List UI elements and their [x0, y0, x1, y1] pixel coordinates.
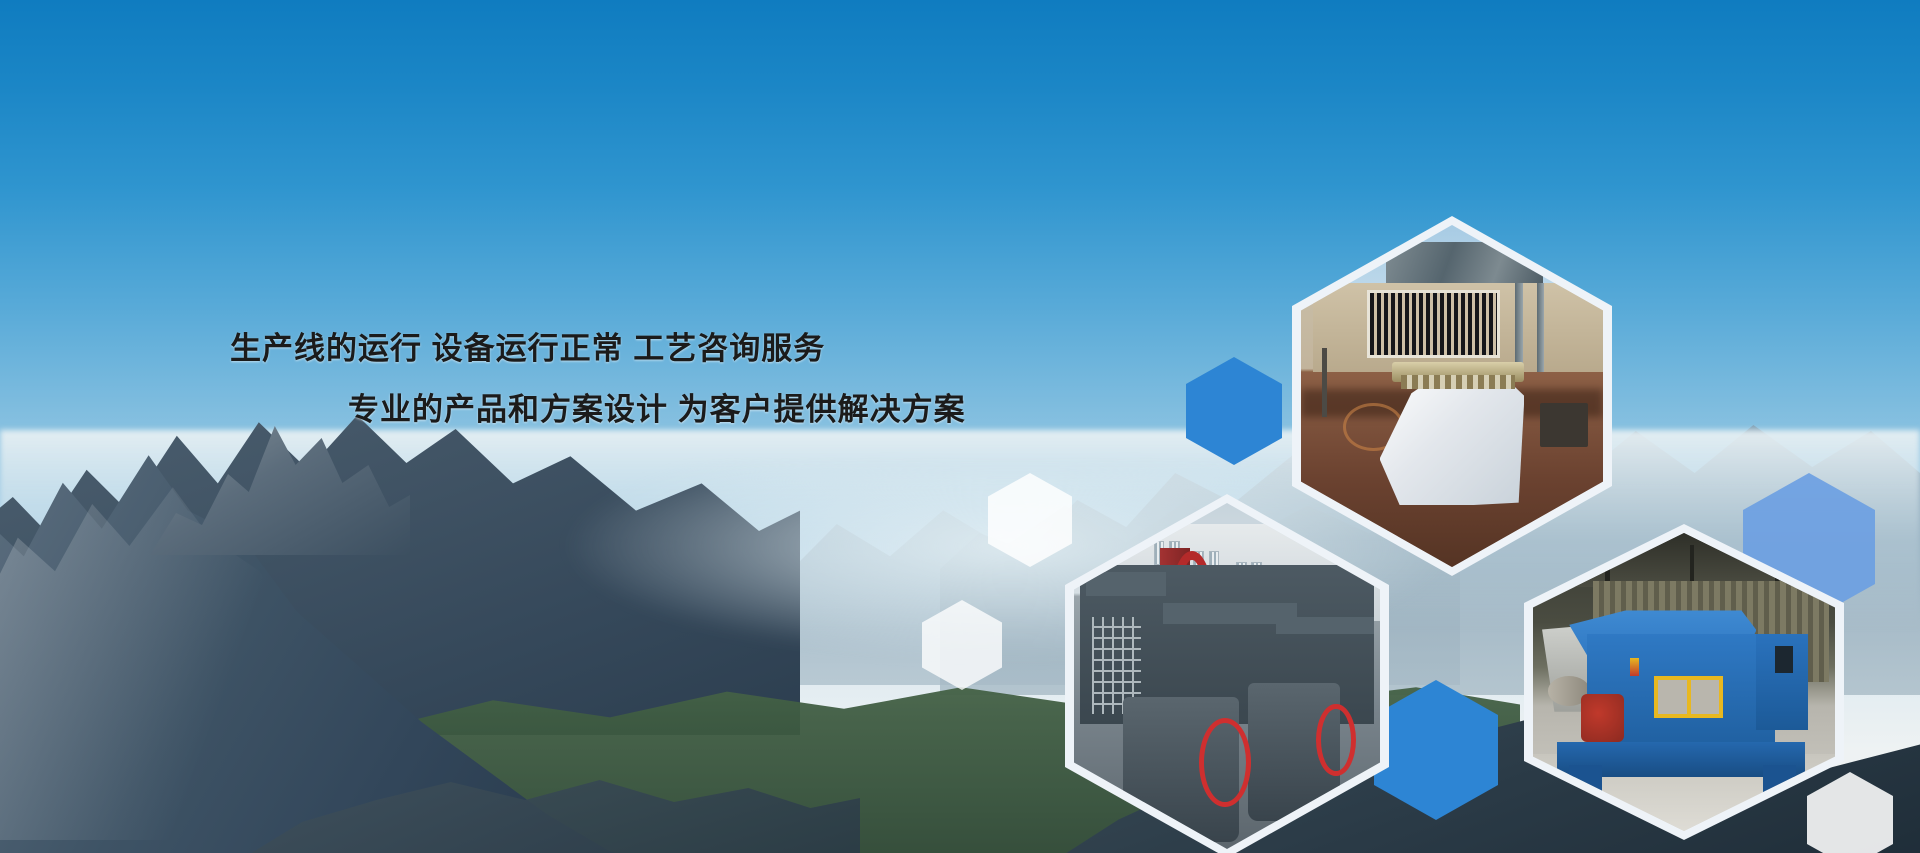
steel-beam: [1276, 617, 1374, 634]
headline-line-1: 生产线的运行 设备运行正常 工艺咨询服务: [0, 318, 1060, 379]
banner-headline: 生产线的运行 设备运行正常 工艺咨询服务 专业的产品和方案设计 为客户提供解决方…: [0, 318, 1060, 440]
hex-photo-shredder[interactable]: [1524, 524, 1844, 840]
wall-pillar: [1537, 283, 1544, 386]
red-motor: [1581, 694, 1623, 742]
barred-window: [1367, 290, 1500, 358]
headline-line-2: 专业的产品和方案设计 为客户提供解决方案: [0, 379, 1060, 440]
cabinet-window: [1775, 646, 1793, 673]
red-handwheel: [1316, 704, 1356, 777]
yellow-framed-window: [1654, 676, 1723, 718]
warning-marker: [1630, 658, 1639, 676]
hex-photo-vessels[interactable]: [1065, 494, 1389, 853]
ladle-bolts: [1401, 375, 1516, 389]
hero-banner: 生产线的运行 设备运行正常 工艺咨询服务 专业的产品和方案设计 为客户提供解决方…: [0, 0, 1920, 853]
utility-pole: [1322, 348, 1327, 416]
dark-bin: [1540, 403, 1588, 447]
red-handwheel: [1199, 718, 1251, 808]
